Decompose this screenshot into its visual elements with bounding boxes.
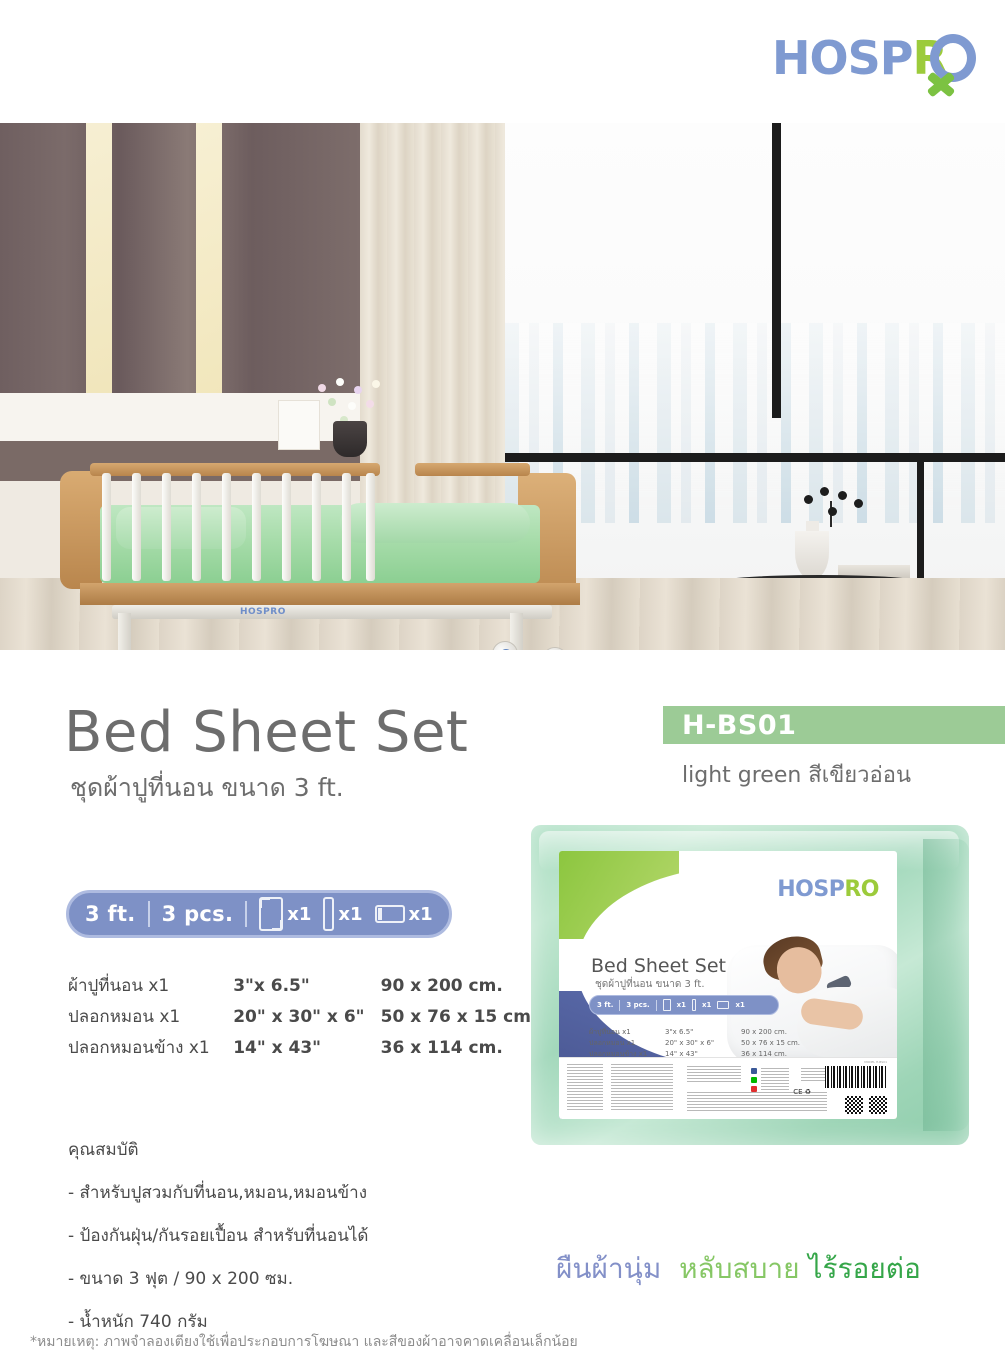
hero-room-photo: HOSPRO — [0, 123, 1005, 650]
footnote-disclaimer: *หมายเหตุ: ภาพจำลองเตียงใช้เพื่อประกอบกา… — [30, 1331, 578, 1353]
spec-table: ผ้าปูที่นอน x1 3"x 6.5" 90 x 200 cm. ปลอ… — [68, 972, 538, 1065]
spec-name: ผ้าปูที่นอน x1 — [68, 972, 233, 999]
side-rail-top-wood-2 — [415, 463, 530, 476]
label-qty-1: x1 — [677, 1001, 686, 1009]
pillow-case-icon-group: x1 — [375, 904, 433, 925]
bed-sheet-icon-group: x1 — [259, 897, 311, 931]
wall-panel — [0, 123, 360, 423]
label-title: Bed Sheet Set — [591, 955, 726, 977]
list-item: - สำหรับปูสวมกับที่นอน,หมอน,หมอนข้าง — [68, 1179, 518, 1206]
features-heading: คุณสมบัติ — [68, 1136, 518, 1163]
table-vase — [795, 531, 829, 579]
list-item: - ป้องกันฝุ่น/กันรอยเปื้อน สำหรับที่นอนไ… — [68, 1222, 518, 1249]
hospital-bed: HOSPRO — [40, 463, 600, 650]
spec-name: ปลอกหมอนข้าง x1 — [68, 1034, 233, 1061]
label-spec-cm: 90 x 200 cm. — [741, 1027, 787, 1038]
youtube-icon — [751, 1086, 757, 1092]
spec-inches: 3"x 6.5" — [233, 976, 380, 996]
bolster-case-icon-group: x1 — [323, 897, 362, 931]
bolster-case-icon — [323, 897, 334, 931]
facebook-icon — [751, 1068, 757, 1074]
ce-mark-icon: CE ♻ — [793, 1088, 811, 1096]
label-logo-accent: RO — [844, 877, 879, 902]
label-spec-inches: 3"x 6.5" — [665, 1027, 727, 1038]
product-datasheet-page: HOSPR — [0, 0, 1005, 1357]
spec-inches: 14" x 43" — [233, 1038, 380, 1058]
package-photo: HOSPRO Bed Sheet Set ชุดผ้าปูที่นอน ขนาด… — [531, 825, 969, 1145]
window-frame-vertical-2 — [917, 453, 924, 593]
table-row: ผ้าปูที่นอน x1 3"x 6.5" 90 x 200 cm. — [589, 1027, 800, 1038]
label-pill-pieces: 3 pcs. — [626, 1001, 649, 1009]
pillow-case-icon — [375, 905, 405, 923]
label-social-text-block — [761, 1068, 789, 1092]
marketing-tagline: ผืนผ้านุ่ม หลับสบาย ไร้รอยต่อ — [556, 1247, 921, 1291]
logo-cross-icon — [924, 68, 958, 98]
flower-vase — [333, 421, 367, 457]
label-footer-band: CE ♻ MODEL H-BS01 — [559, 1057, 897, 1119]
page-subtitle: ชุดผ้าปูที่นอน ขนาด 3 ft. — [70, 768, 344, 808]
bed-sheet-icon — [259, 897, 283, 931]
pill-divider-1 — [148, 901, 150, 927]
label-instructions-block — [611, 1064, 673, 1110]
hospro-logo: HOSPR — [772, 32, 982, 102]
label-bolster-icon — [692, 999, 696, 1011]
qr-code-2 — [869, 1096, 887, 1114]
label-care-text-block — [567, 1064, 603, 1110]
bolster-case-qty: x1 — [338, 904, 362, 925]
bed-frame — [80, 583, 580, 605]
window-frame-vertical — [772, 123, 781, 418]
line-icon — [751, 1077, 757, 1083]
pillow-case-qty: x1 — [409, 904, 433, 925]
table-row: ปลอกหมอน x1 20" x 30" x 6" 50 x 76 x 15 … — [589, 1038, 800, 1049]
color-name: light green สีเขียวอ่อน — [682, 757, 911, 792]
label-model-line: MODEL H-BS01 — [864, 1060, 887, 1064]
bed-headboard — [60, 471, 102, 589]
spec-cm: 50 x 76 x 15 cm. — [381, 1007, 538, 1027]
label-qty-3: x1 — [735, 1001, 744, 1009]
spec-cm: 90 x 200 cm. — [381, 976, 538, 996]
label-material-block — [687, 1066, 741, 1084]
label-qty-2: x1 — [702, 1001, 711, 1009]
label-logo: HOSPRO — [777, 877, 879, 902]
features-list: คุณสมบัติ - สำหรับปูสวมกับที่นอน,หมอน,หม… — [68, 1136, 518, 1351]
spec-name: ปลอกหมอน x1 — [68, 1003, 233, 1030]
table-row: ผ้าปูที่นอน x1 3"x 6.5" 90 x 200 cm. — [68, 972, 538, 1003]
table-row: ปลอกหมอนข้าง x1 14" x 43" 36 x 114 cm. — [68, 1034, 538, 1065]
bed-brand-badge: HOSPRO — [240, 607, 286, 617]
table-row: ปลอกหมอน x1 20" x 30" x 6" 50 x 76 x 15 … — [68, 1003, 538, 1034]
label-spec-table: ผ้าปูที่นอน x1 3"x 6.5" 90 x 200 cm. ปลอ… — [589, 1027, 800, 1060]
label-spec-cm: 50 x 76 x 15 cm. — [741, 1038, 800, 1049]
label-pill-size: 3 ft. — [597, 1001, 613, 1009]
pill-pieces-label: 3 pcs. — [162, 902, 234, 926]
window-frame-horizontal — [505, 453, 1005, 462]
pill-divider-2 — [245, 901, 247, 927]
tagline-part-3: ไร้รอยต่อ — [808, 1252, 920, 1285]
label-subtitle: ชุดผ้าปูที่นอน ขนาด 3 ft. — [595, 977, 705, 992]
label-spec-pill: 3 ft. 3 pcs. x1 x1 x1 — [589, 995, 779, 1015]
page-title: Bed Sheet Set — [64, 700, 468, 765]
barcode — [825, 1066, 887, 1088]
label-spec-name: ปลอกหมอน x1 — [589, 1038, 651, 1049]
package-side-face — [923, 839, 969, 1131]
label-logo-main: HOSP — [777, 877, 844, 902]
label-pillow-icon — [717, 1001, 729, 1009]
bed-sheet-qty: x1 — [287, 904, 311, 925]
label-spec-name: ผ้าปูที่นอน x1 — [589, 1027, 651, 1038]
qr-code-1 — [845, 1096, 863, 1114]
label-bed-sheet-icon — [663, 999, 671, 1011]
list-item: - ขนาด 3 ฟุต / 90 x 200 ซม. — [68, 1265, 518, 1292]
tagline-part-1: ผืนผ้านุ่ม — [556, 1252, 661, 1285]
package-label: HOSPRO Bed Sheet Set ชุดผ้าปูที่นอน ขนาด… — [559, 851, 897, 1119]
model-code: H-BS01 — [682, 710, 796, 741]
pill-size-label: 3 ft. — [85, 902, 136, 926]
label-spec-inches: 20" x 30" x 6" — [665, 1038, 727, 1049]
logo-text-main: HOSP — [772, 31, 912, 85]
spec-summary-pill: 3 ft. 3 pcs. x1 x1 x1 — [66, 890, 452, 938]
spec-inches: 20" x 30" x 6" — [233, 1007, 380, 1027]
spec-cm: 36 x 114 cm. — [381, 1038, 538, 1058]
bed-base — [112, 605, 552, 619]
tagline-part-2: หลับสบาย — [679, 1252, 799, 1285]
